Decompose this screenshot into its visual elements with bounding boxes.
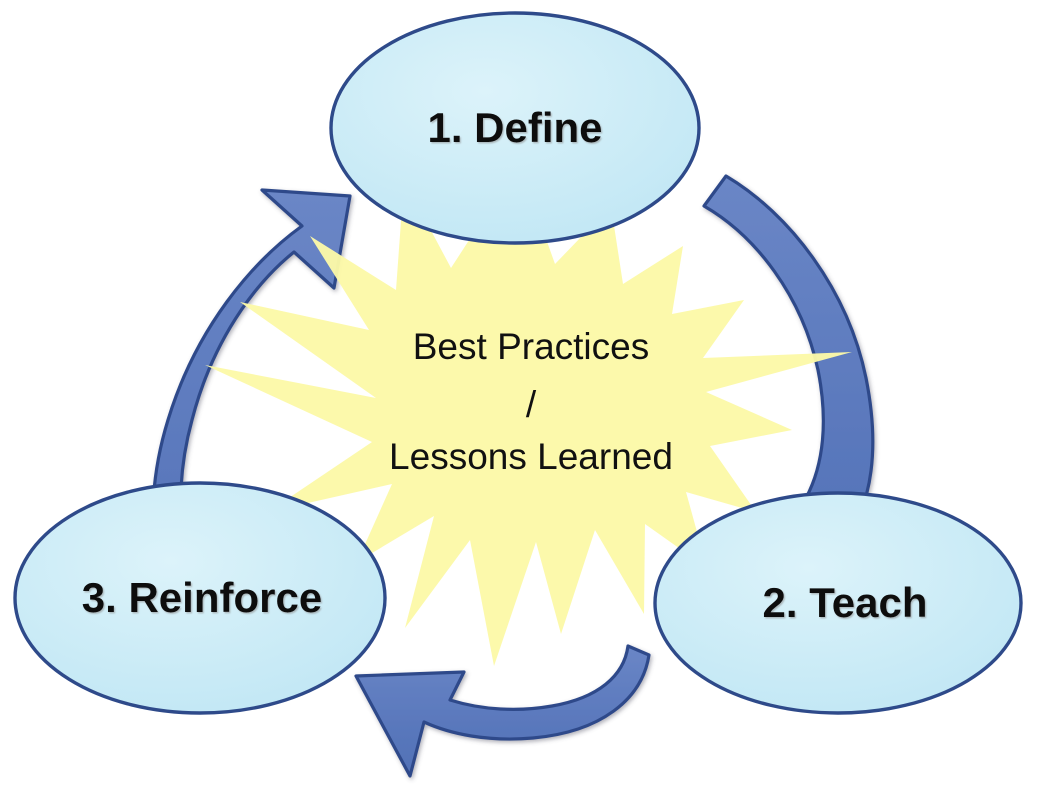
center-text-line-2: / xyxy=(526,384,537,425)
arrow-path xyxy=(356,646,649,776)
node-label-define: 1. Define xyxy=(427,104,602,151)
center-text-line-1: Best Practices xyxy=(413,326,649,367)
node-teach[interactable]: 2. Teach xyxy=(655,493,1021,713)
cycle-diagram: 1. Define 3. Reinforce 2. Teach Best Pra… xyxy=(0,0,1038,800)
center-text-line-3: Lessons Learned xyxy=(389,436,673,477)
diagram-canvas: 1. Define 3. Reinforce 2. Teach Best Pra… xyxy=(0,0,1038,800)
node-reinforce[interactable]: 3. Reinforce xyxy=(15,483,385,713)
node-define[interactable]: 1. Define xyxy=(331,13,699,243)
arrow-teach-to-reinforce xyxy=(356,646,649,776)
node-label-teach: 2. Teach xyxy=(763,579,928,626)
node-label-reinforce: 3. Reinforce xyxy=(82,574,322,621)
